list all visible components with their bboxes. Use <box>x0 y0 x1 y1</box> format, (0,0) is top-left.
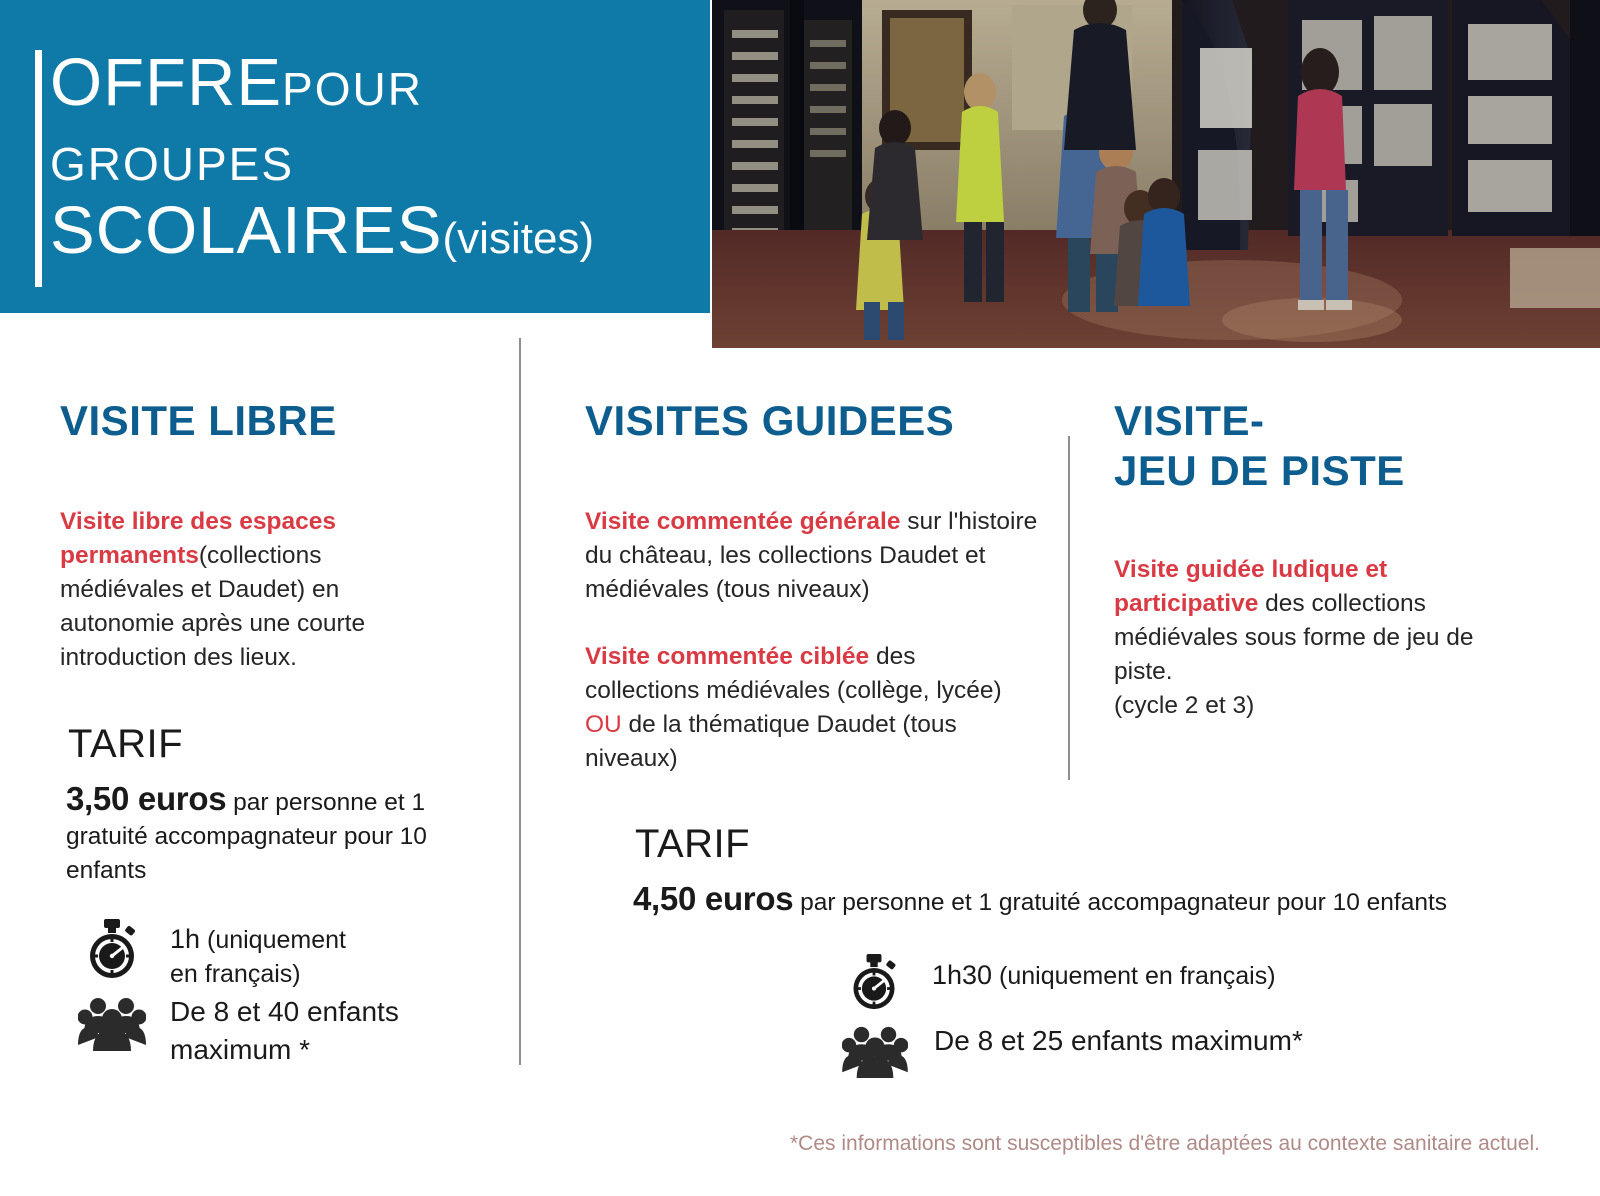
duration-note-visites-guidees: (uniquement en français) <box>992 962 1275 990</box>
column-divider-left <box>519 338 521 1065</box>
visites-guidees-highlight-2: Visite commentée ciblée <box>585 643 869 670</box>
visites-guidees-highlight-1: Visite commentée générale <box>585 508 900 535</box>
visites-guidees-description-2: Visite commentée ciblée des collections … <box>585 640 1035 776</box>
header-visites-word: (visites) <box>443 214 595 263</box>
section-title-piste-line1: VISITE- <box>1114 397 1265 444</box>
visites-guidees-rest-2: de la thématique Daudet (tous niveaux) <box>585 711 957 772</box>
duration-value-visite-libre: 1h <box>170 924 200 954</box>
header-title-group: OFFREPOUR GROUPES SCOLAIRES(visites) <box>50 46 690 274</box>
capacity-text-visite-libre: De 8 et 40 enfants maximum * <box>170 993 440 1069</box>
capacity-row-visite-libre: De 8 et 40 enfants maximum * <box>78 993 478 1069</box>
visite-libre-description: Visite libre des espaces permanents(coll… <box>60 505 390 675</box>
stopwatch-icon-glyph <box>846 952 902 1012</box>
group-people-icon <box>842 1022 908 1083</box>
group-people-icon <box>78 993 146 1056</box>
tarif-label-visite-libre: TARIF <box>68 722 183 767</box>
header-scolaires-word: SCOLAIRES <box>50 193 443 268</box>
visites-guidees-description-1: Visite commentée générale sur l'histoire… <box>585 505 1050 607</box>
tarif-value-visite-libre: 3,50 euros par personne et 1 gratuité ac… <box>66 782 456 888</box>
stopwatch-icon <box>846 952 902 1017</box>
section-title-visite-jeu-de-piste: VISITE-JEU DE PISTE <box>1114 396 1454 496</box>
header-offre-word: OFFRE <box>50 45 282 120</box>
column-divider-right <box>1068 436 1070 780</box>
capacity-row-visites-guidees: De 8 et 25 enfants maximum* <box>842 1022 1303 1083</box>
museum-group-photo <box>712 0 1600 348</box>
visite-jeu-de-piste-description: Visite guidée ludique et participative d… <box>1114 553 1514 723</box>
stopwatch-icon-glyph <box>82 918 142 980</box>
tarif-label-visites-guidees: TARIF <box>635 822 750 867</box>
header-line-2: GROUPES <box>50 126 690 202</box>
header-line-1: OFFREPOUR <box>50 46 690 126</box>
section-title-visites-guidees: VISITES GUIDEES <box>585 396 954 446</box>
duration-row-visites-guidees: 1h30 (uniquement en français) <box>846 952 1276 1017</box>
tarif-price-visites-guidees: 4,50 euros <box>633 880 793 917</box>
tarif-value-visites-guidees: 4,50 euros par personne et 1 gratuité ac… <box>633 882 1453 920</box>
stopwatch-icon <box>82 918 142 985</box>
group-people-icon-glyph <box>842 1022 908 1078</box>
visite-jeu-de-piste-cycle: (cycle 2 et 3) <box>1114 692 1254 719</box>
duration-row-visite-libre: 1h (uniquement en français) <box>82 918 462 991</box>
section-title-piste-line2: JEU DE PISTE <box>1114 447 1405 494</box>
header-accent-bar <box>35 50 42 287</box>
tarif-price-visite-libre: 3,50 euros <box>66 780 226 817</box>
footnote-sanitary-notice: *Ces informations sont susceptibles d'êt… <box>790 1132 1540 1156</box>
tarif-details-visites-guidees: par personne et 1 gratuité accompagnateu… <box>793 889 1447 916</box>
capacity-text-visites-guidees: De 8 et 25 enfants maximum* <box>934 1022 1303 1058</box>
photo-illustration <box>712 0 1600 348</box>
group-people-icon-glyph <box>78 993 146 1051</box>
header-pour-word: POUR <box>282 63 423 115</box>
section-title-visite-libre: VISITE LIBRE <box>60 396 337 446</box>
poster-page: OFFREPOUR GROUPES SCOLAIRES(visites) <box>0 0 1600 1196</box>
duration-text-visite-libre: 1h (uniquement en français) <box>170 918 380 991</box>
duration-value-visites-guidees: 1h30 <box>932 960 992 990</box>
header-line-3: SCOLAIRES(visites) <box>50 196 690 274</box>
visites-guidees-ou-keyword: OU <box>585 711 622 738</box>
header-banner: OFFREPOUR GROUPES SCOLAIRES(visites) <box>0 0 710 313</box>
duration-text-visites-guidees: 1h30 (uniquement en français) <box>932 952 1276 993</box>
